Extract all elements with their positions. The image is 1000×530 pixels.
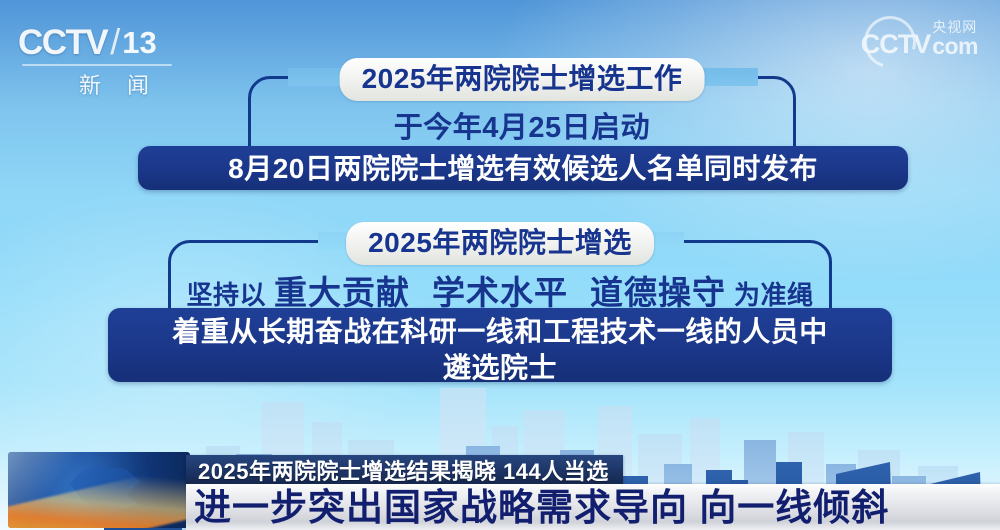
info-card-schedule: 2025年两院院士增选工作 于今年4月25日启动 8月20日两院院士增选有效候选… <box>248 58 796 188</box>
lower-third-subtitle-bar: 2025年两院院士增选结果揭晓 144人当选 <box>186 455 623 484</box>
criteria-item-3: 道德操守 <box>590 266 726 314</box>
watermark-right-stack: 央视网 com <box>932 20 978 58</box>
cctv-channel-number: 13 <box>122 27 156 58</box>
watermark-arc-icon <box>855 7 925 77</box>
broadcast-frame: CCTV / 13 新 闻 CCTV 央视网 com 2025年两院院士增选工作… <box>0 0 1000 530</box>
lower-third-subtitle-text: 2025年两院院士增选结果揭晓 144人当选 <box>198 454 609 486</box>
cctv13-channel-logo: CCTV / 13 新 闻 <box>18 22 198 92</box>
criteria-item-1: 重大贡献 <box>274 266 410 314</box>
criteria-highlight-line-1: 着重从长期奋战在科研一线和工程技术一线的人员中 <box>108 314 892 350</box>
schedule-card-pill: 2025年两院院士增选工作 <box>340 58 705 101</box>
criteria-item-2: 学术水平 <box>432 266 568 314</box>
lower-third-headline-bar: 进一步突出国家战略需求导向 向一线倾斜 <box>186 484 1000 530</box>
schedule-highlight-text: 8月20日两院院士增选有效候选人名单同时发布 <box>228 153 818 184</box>
cctv-logo-underline <box>22 64 172 66</box>
lower-third-headline-text: 进一步突出国家战略需求导向 向一线倾斜 <box>186 489 889 526</box>
criteria-card-pill: 2025年两院院士增选 <box>346 222 654 265</box>
cctv13-logo-row: CCTV / 13 <box>18 22 198 62</box>
cctv-logo-slash: / <box>110 24 120 60</box>
cctv-com-watermark: CCTV 央视网 com <box>788 20 978 74</box>
cctv-channel-subtitle: 新 闻 <box>18 68 198 100</box>
criteria-highlight-bar: 着重从长期奋战在科研一线和工程技术一线的人员中 遴选院士 <box>108 308 892 382</box>
criteria-suffix: 为准绳 <box>734 275 814 312</box>
news-globe-graphic <box>8 452 190 528</box>
schedule-highlight-bar: 8月20日两院院士增选有效候选人名单同时发布 <box>138 146 908 190</box>
lower-third-banner: 2025年两院院士增选结果揭晓 144人当选 进一步突出国家战略需求导向 向一线… <box>0 448 1000 530</box>
criteria-prefix: 坚持以 <box>186 275 266 312</box>
info-card-criteria: 2025年两院院士增选 坚持以 重大贡献 学术水平 道德操守 为准绳 着重从长期… <box>168 222 832 382</box>
watermark-com-label: com <box>932 35 978 58</box>
cctv-wordmark: CCTV <box>18 25 107 60</box>
schedule-card-line: 于今年4月25日启动 <box>248 104 796 146</box>
criteria-pill-text: 2025年两院院士增选 <box>368 227 632 258</box>
schedule-pill-text: 2025年两院院士增选工作 <box>362 63 683 94</box>
criteria-highlight-line-2: 遴选院士 <box>108 350 892 386</box>
criteria-card-line: 坚持以 重大贡献 学术水平 道德操守 为准绳 <box>168 266 832 314</box>
